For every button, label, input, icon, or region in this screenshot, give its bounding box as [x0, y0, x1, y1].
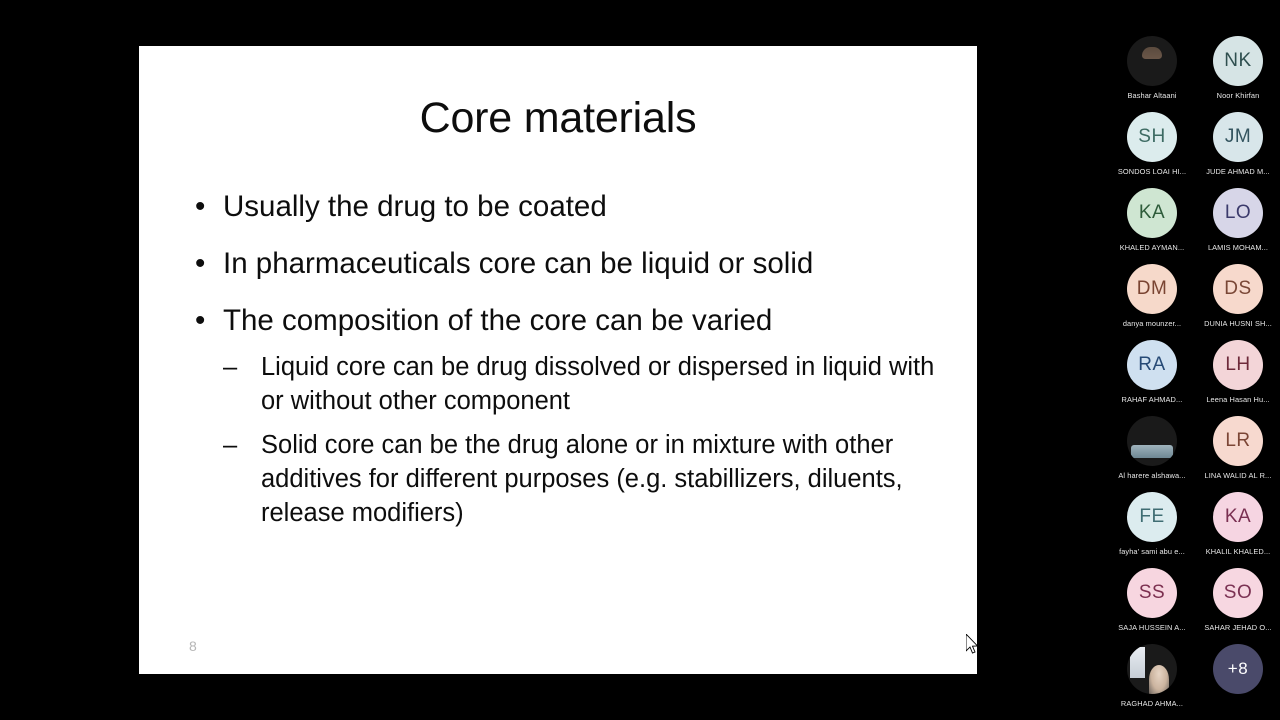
participant-name: RAHAF AHMAD... [1122, 395, 1183, 404]
participant-tile[interactable]: SHSONDOS LOAI HI... [1118, 112, 1186, 176]
participant-avatar[interactable]: SH [1127, 112, 1177, 162]
participant-name: JUDE AHMAD M... [1206, 167, 1270, 176]
participant-avatar[interactable]: DS [1213, 264, 1263, 314]
participant-avatar[interactable]: NK [1213, 36, 1263, 86]
participant-avatar[interactable]: FE [1127, 492, 1177, 542]
participant-name: Noor Khirfan [1217, 91, 1260, 100]
participant-avatar[interactable]: RA [1127, 340, 1177, 390]
participant-tile[interactable]: Bashar Altaani [1118, 36, 1186, 100]
participant-tile[interactable]: DMdanya mounzer... [1118, 264, 1186, 328]
participant-tile[interactable]: KAKHALIL KHALED... [1204, 492, 1272, 556]
participant-name: Al harere alshawa... [1118, 471, 1185, 480]
participant-avatar[interactable]: SO [1213, 568, 1263, 618]
participant-row: RAGHAD AHMA...+8 [1110, 644, 1280, 708]
presentation-slide: Core materials • Usually the drug to be … [139, 46, 977, 674]
participant-name: KHALIL KHALED... [1206, 547, 1271, 556]
screen-share-stage: Core materials • Usually the drug to be … [0, 0, 1110, 720]
slide-title: Core materials [139, 94, 977, 143]
participant-avatar[interactable] [1127, 416, 1177, 466]
participant-row: RARAHAF AHMAD...LHLeena Hasan Hu... [1110, 340, 1280, 404]
participant-name: Leena Hasan Hu... [1206, 395, 1269, 404]
participant-avatar[interactable]: SS [1127, 568, 1177, 618]
participant-gallery[interactable]: Bashar AltaaniNKNoor KhirfanSHSONDOS LOA… [1110, 0, 1280, 720]
participant-avatar[interactable]: LH [1213, 340, 1263, 390]
participant-name: KHALED AYMAN... [1120, 243, 1185, 252]
participant-name: SAHAR JEHAD O... [1204, 623, 1271, 632]
slide-page-number: 8 [189, 638, 197, 654]
participant-row: Bashar AltaaniNKNoor Khirfan [1110, 36, 1280, 100]
sub-bullet-marker-icon: – [223, 351, 237, 385]
slide-body: • Usually the drug to be coated • In pha… [183, 190, 943, 555]
participant-tile[interactable]: Al harere alshawa... [1118, 416, 1186, 480]
bullet-item: • Usually the drug to be coated [183, 190, 943, 223]
participant-tile[interactable]: JMJUDE AHMAD M... [1204, 112, 1272, 176]
bullet-list-level1: • Usually the drug to be coated • In pha… [183, 190, 943, 531]
participant-avatar[interactable]: KA [1213, 492, 1263, 542]
participant-avatar[interactable]: KA [1127, 188, 1177, 238]
participant-tile[interactable]: +8 [1204, 644, 1272, 708]
participant-tile[interactable]: DSDUNIA HUSNI SH... [1204, 264, 1272, 328]
participant-row: FEfayha' sami abu e...KAKHALIL KHALED... [1110, 492, 1280, 556]
participant-tile[interactable]: LOLAMIS MOHAM... [1204, 188, 1272, 252]
participant-tile[interactable]: SOSAHAR JEHAD O... [1204, 568, 1272, 632]
participant-row: KAKHALED AYMAN...LOLAMIS MOHAM... [1110, 188, 1280, 252]
bullet-list-level2: – Liquid core can be drug dissolved or d… [223, 351, 943, 531]
bullet-marker-icon: • [195, 247, 205, 280]
participant-row: SSSAJA HUSSEIN A...SOSAHAR JEHAD O... [1110, 568, 1280, 632]
participant-avatar[interactable]: LR [1213, 416, 1263, 466]
participant-tile[interactable]: LHLeena Hasan Hu... [1204, 340, 1272, 404]
participant-tile[interactable]: SSSAJA HUSSEIN A... [1118, 568, 1186, 632]
participant-name: fayha' sami abu e... [1119, 547, 1185, 556]
participant-name: danya mounzer... [1123, 319, 1181, 328]
participant-avatar[interactable] [1127, 644, 1177, 694]
participant-tile[interactable]: NKNoor Khirfan [1204, 36, 1272, 100]
bullet-marker-icon: • [195, 190, 205, 223]
participant-avatar[interactable] [1127, 36, 1177, 86]
participant-row: SHSONDOS LOAI HI...JMJUDE AHMAD M... [1110, 112, 1280, 176]
participant-name: Bashar Altaani [1127, 91, 1176, 100]
participant-name: SAJA HUSSEIN A... [1118, 623, 1185, 632]
sub-bullet-text: Liquid core can be drug dissolved or dis… [261, 351, 943, 419]
participant-name: LINA WALID AL R... [1205, 471, 1272, 480]
participant-tile[interactable]: FEfayha' sami abu e... [1118, 492, 1186, 556]
participant-avatar[interactable]: DM [1127, 264, 1177, 314]
participant-tile[interactable]: RARAHAF AHMAD... [1118, 340, 1186, 404]
participant-tile[interactable]: LRLINA WALID AL R... [1204, 416, 1272, 480]
bullet-item: • In pharmaceuticals core can be liquid … [183, 247, 943, 280]
participant-tile[interactable]: RAGHAD AHMA... [1118, 644, 1186, 708]
participant-name: RAGHAD AHMA... [1121, 699, 1183, 708]
sub-bullet-marker-icon: – [223, 429, 237, 463]
bullet-text: The composition of the core can be varie… [223, 304, 943, 337]
participant-avatar[interactable]: JM [1213, 112, 1263, 162]
participant-tile[interactable]: KAKHALED AYMAN... [1118, 188, 1186, 252]
participant-name: LAMIS MOHAM... [1208, 243, 1268, 252]
participant-name: DUNIA HUSNI SH... [1204, 319, 1272, 328]
bullet-item: • The composition of the core can be var… [183, 304, 943, 531]
participant-overflow-badge[interactable]: +8 [1213, 644, 1263, 694]
bullet-text: In pharmaceuticals core can be liquid or… [223, 247, 943, 280]
bullet-marker-icon: • [195, 304, 205, 337]
sub-bullet-item: – Liquid core can be drug dissolved or d… [223, 351, 943, 419]
participant-name: SONDOS LOAI HI... [1118, 167, 1186, 176]
sub-bullet-item: – Solid core can be the drug alone or in… [223, 429, 943, 531]
participant-avatar[interactable]: LO [1213, 188, 1263, 238]
sub-bullet-text: Solid core can be the drug alone or in m… [261, 429, 943, 531]
participant-row: DMdanya mounzer...DSDUNIA HUSNI SH... [1110, 264, 1280, 328]
participant-row: Al harere alshawa...LRLINA WALID AL R... [1110, 416, 1280, 480]
bullet-text: Usually the drug to be coated [223, 190, 943, 223]
